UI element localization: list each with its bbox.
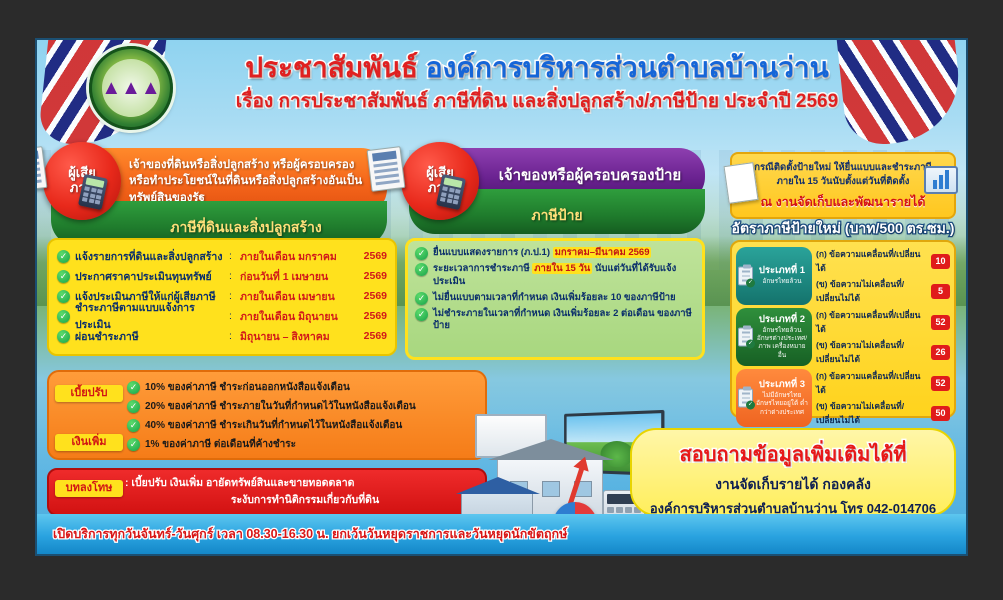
sanction-line-1: : เบี้ยปรับ เงินเพิ่ม อายัดทรัพย์สินและข…	[125, 476, 475, 491]
rate-line: (ข) ข้อความไม่เคลื่อนที่/เปลี่ยนไม่ได้ 2…	[816, 338, 950, 366]
contact-box: สอบถามข้อมูลเพิ่มเติมได้ที่ งานจัดเก็บรา…	[630, 428, 956, 516]
rate-type-1: ✓ ประเภทที่ 1 อักษรไทยล้วน	[736, 247, 812, 305]
list-item: ✓ 40% ของค่าภาษี ชำระเกินวันที่กำหนดไว้ใ…	[127, 416, 475, 435]
contact-department: งานจัดเก็บรายได้ กองคลัง	[632, 474, 954, 496]
seal-temple-icon: ▲▲▲	[101, 78, 160, 99]
schedule-label: ประกาศราคาประเมินทุนทรัพย์	[75, 268, 224, 285]
rate-row: ✓ ประเภทที่ 1 อักษรไทยล้วน (ก) ข้อความแค…	[736, 247, 950, 305]
rate-type-2-title: ประเภทที่ 2	[756, 315, 808, 326]
list-item: ✓ แจ้งรายการที่ดินและสิ่งปลูกสร้าง : ภาย…	[57, 246, 387, 266]
sign-taxpayer-block: ผู้เสีย ภาษี เจ้าของหรือผู้ครอบครองป้าย …	[409, 148, 705, 234]
service-hours-text: เปิดบริการทุกวันจันทร์-วันศุกร์ เวลา 08.…	[53, 524, 567, 544]
rate-type-1-subtitle: อักษรไทยล้วน	[756, 278, 808, 286]
sanction-tag: บทลงโทษ	[55, 480, 123, 497]
calculator-keys	[440, 186, 461, 204]
check-icon: ✓	[127, 419, 140, 432]
schedule-colon: :	[229, 330, 235, 342]
house-window	[542, 481, 560, 497]
check-icon: ✓	[415, 308, 428, 321]
new-sign-notice-box: กรณีติดตั้งป้ายใหม่ ให้ยื่นแบบและชำระภาษ…	[730, 152, 956, 219]
schedule-colon: :	[229, 290, 235, 302]
sign-rate-table: ✓ ประเภทที่ 1 อักษรไทยล้วน (ก) ข้อความแค…	[730, 240, 956, 418]
poster-canvas: ▲▲▲ ประชาสัมพันธ์ องค์การบริหารส่วนตำบลบ…	[35, 38, 968, 556]
rate-type-2-subtitle: อักษรไทยล้วน อักษรต่างประเทศ/ภาพ เครื่อง…	[756, 327, 808, 360]
schedule-label: ผ่อนชำระภาษี	[75, 328, 224, 345]
check-icon: ✓	[127, 381, 140, 394]
service-hours-bar: เปิดบริการทุกวันจันทร์-วันศุกร์ เวลา 08.…	[37, 514, 966, 554]
land-tax-schedule-list: ✓ แจ้งรายการที่ดินและสิ่งปลูกสร้าง : ภาย…	[47, 238, 397, 356]
rate-value-badge: 10	[931, 254, 950, 269]
organization-seal-logo: ▲▲▲	[89, 46, 173, 130]
rate-type-3-title: ประเภทที่ 3	[756, 380, 808, 391]
rate-line: (ข) ข้อความไม่เคลื่อนที่/เปลี่ยนไม่ได้ 5…	[816, 399, 950, 427]
sanction-box: บทลงโทษ : เบี้ยปรับ เงินเพิ่ม อายัดทรัพย…	[47, 468, 487, 516]
schedule-year: 2569	[355, 290, 387, 302]
rate-line-text: (ก) ข้อความแคลื่อนที่/เปลี่ยนได้	[816, 308, 927, 336]
poster-header: ▲▲▲ ประชาสัมพันธ์ องค์การบริหารส่วนตำบลบ…	[37, 40, 966, 138]
schedule-year: 2569	[355, 270, 387, 282]
sanction-line-2: ระงับการทำนิติกรรมเกี่ยวกับที่ดิน	[125, 491, 475, 508]
rate-line: (ก) ข้อความแคลื่อนที่/เปลี่ยนได้ 52	[816, 308, 950, 336]
check-icon: ✓	[415, 247, 428, 260]
calculator-keys	[82, 186, 103, 204]
rate-line: (ก) ข้อความแคลื่อนที่/เปลี่ยนได้ 52	[816, 369, 950, 397]
land-taxpayer-block: ผู้เสีย ภาษี เจ้าของที่ดินหรือสิ่งปลูกสร…	[51, 148, 387, 246]
notice-line-3: ณ งานจัดเก็บและพัฒนารายได้	[740, 192, 946, 212]
check-icon: ✓	[57, 310, 70, 323]
penalty-box: เบี้ยปรับ เงินเพิ่ม ✓ 10% ของค่าภาษี ชำร…	[47, 370, 487, 460]
notice-line-2: ภายใน 15 วันนับตั้งแต่วันที่ติดตั้ง	[740, 175, 946, 189]
schedule-when: ภายในเดือน มิถุนายน	[240, 308, 350, 325]
fine-text: 20% ของค่าภาษี ชำระภายในวันที่กำหนดไว้ใน…	[145, 399, 416, 414]
clipboard-check-icon: ✓	[738, 328, 753, 347]
rate-items-1: (ก) ข้อความแคลื่อนที่/เปลี่ยนได้ 10 (ข) …	[816, 247, 950, 305]
list-item: ✓ ประกาศราคาประเมินทุนทรัพย์ : ก่อนวันที…	[57, 266, 387, 286]
rate-line-text: (ก) ข้อความแคลื่อนที่/เปลี่ยนได้	[816, 369, 927, 397]
schedule-when: ก่อนวันที่ 1 เมษายน	[240, 268, 350, 285]
rate-row: ✓ ประเภทที่ 3 ไม่มีอักษรไทย อักษรไทยอยู่…	[736, 369, 950, 427]
schedule-label: แจ้งรายการที่ดินและสิ่งปลูกสร้าง	[75, 248, 224, 265]
rate-table-title: อัตราภาษีป้ายใหม่ (บาท/500 ตร.ซม.)	[730, 218, 956, 240]
list-item: ✓ ผ่อนชำระภาษี : มิถุนายน – สิงหาคม 2569	[57, 326, 387, 346]
schedule-colon: :	[229, 270, 235, 282]
schedule-colon: :	[229, 310, 235, 322]
fine-text: 10% ของค่าภาษี ชำระก่อนออกหนังสือแจ้งเตื…	[145, 380, 350, 395]
sign-rule-text: ไม่ยื่นแบบตามเวลาที่กำหนด เงินเพิ่มร้อยล…	[433, 292, 676, 305]
surcharge-text: 1% ของค่าภาษี ต่อเดือนที่ค้างชำระ	[145, 437, 296, 452]
sign-rule-highlight: ภายใน 15 วัน	[532, 263, 592, 274]
sign-tax-rules-list: ✓ ยื่นแบบแสดงรายการ (ภ.ป.1) มกราคม–มีนาค…	[405, 238, 705, 360]
sign-rule-highlight: มกราคม–มีนาคม 2569	[553, 247, 652, 258]
rate-line: (ก) ข้อความแคลื่อนที่/เปลี่ยนได้ 10	[816, 247, 950, 275]
rate-line-text: (ข) ข้อความไม่เคลื่อนที่/เปลี่ยนไม่ได้	[816, 338, 927, 366]
check-icon: ✓	[127, 400, 140, 413]
sign-rule-text: ระยะเวลาการชำระภาษี ภายใน 15 วัน นับแต่ว…	[433, 263, 695, 289]
sign-rule-text: ยื่นแบบแสดงรายการ (ภ.ป.1) มกราคม–มีนาคม …	[433, 247, 651, 260]
rate-value-badge: 26	[931, 345, 950, 360]
rate-type-2: ✓ ประเภทที่ 2 อักษรไทยล้วน อักษรต่างประเ…	[736, 308, 812, 366]
list-item: ✓ 20% ของค่าภาษี ชำระภายในวันที่กำหนดไว้…	[127, 397, 475, 416]
check-icon: ✓	[746, 401, 755, 410]
list-item: ✓ ระยะเวลาการชำระภาษี ภายใน 15 วัน นับแต…	[415, 263, 695, 289]
rate-value-badge: 50	[931, 406, 950, 421]
check-icon: ✓	[57, 250, 70, 263]
schedule-year: 2569	[355, 250, 387, 262]
rate-row: ✓ ประเภทที่ 2 อักษรไทยล้วน อักษรต่างประเ…	[736, 308, 950, 366]
schedule-year: 2569	[355, 330, 387, 342]
schedule-year: 2569	[355, 310, 387, 322]
fine-tag: เบี้ยปรับ	[55, 385, 123, 402]
schedule-when: มิถุนายน – สิงหาคม	[240, 328, 350, 345]
page-subtitle: เรื่อง การประชาสัมพันธ์ ภาษีที่ดิน และสิ…	[187, 92, 887, 111]
list-item: ✓ ชำระภาษีตามแบบแจ้งการประเมิน : ภายในเด…	[57, 306, 387, 326]
check-icon: ✓	[415, 292, 428, 305]
notice-monitor-icon	[924, 166, 958, 194]
notice-document-icon	[724, 162, 759, 204]
list-item: ✓ 1% ของค่าภาษี ต่อเดือนที่ค้างชำระ	[127, 435, 475, 454]
land-taxpayer-badge: ผู้เสีย ภาษี	[43, 142, 121, 220]
sign-rule-pre: ระยะเวลาการชำระภาษี	[433, 263, 532, 274]
rate-line-text: (ก) ข้อความแคลื่อนที่/เปลี่ยนได้	[816, 247, 927, 275]
rate-line: (ข) ข้อความไม่เคลื่อนที่/เปลี่ยนไม่ได้ 5	[816, 277, 950, 305]
schedule-colon: :	[229, 250, 235, 262]
sign-rule-text: ไม่ชำระภายในเวลาที่กำหนด เงินเพิ่มร้อยละ…	[433, 308, 695, 334]
list-item: ✓ ไม่ยื่นแบบตามเวลาที่กำหนด เงินเพิ่มร้อ…	[415, 292, 695, 305]
sign-taxpayer-badge: ผู้เสีย ภาษี	[401, 142, 479, 220]
page-title-blue: องค์การบริหารส่วนตำบลบ้านว่าน	[418, 52, 829, 83]
rate-line-text: (ข) ข้อความไม่เคลื่อนที่/เปลี่ยนไม่ได้	[816, 399, 927, 427]
check-icon: ✓	[57, 330, 70, 343]
rate-line-text: (ข) ข้อความไม่เคลื่อนที่/เปลี่ยนไม่ได้	[816, 277, 927, 305]
seal-inner: ▲▲▲	[102, 59, 160, 117]
check-icon: ✓	[415, 263, 428, 276]
check-icon: ✓	[57, 290, 70, 303]
rate-items-2: (ก) ข้อความแคลื่อนที่/เปลี่ยนได้ 52 (ข) …	[816, 308, 950, 366]
rate-value-badge: 52	[931, 315, 950, 330]
check-icon: ✓	[746, 340, 755, 349]
list-item: ✓ ไม่ชำระภายในเวลาที่กำหนด เงินเพิ่มร้อย…	[415, 308, 695, 334]
check-icon: ✓	[57, 270, 70, 283]
sign-rule-pre: ยื่นแบบแสดงรายการ (ภ.ป.1)	[433, 247, 553, 258]
list-item: ✓ 10% ของค่าภาษี ชำระก่อนออกหนังสือแจ้งเ…	[127, 378, 475, 397]
document-icon	[367, 146, 406, 192]
clipboard-check-icon: ✓	[738, 389, 753, 408]
list-item: ✓ ยื่นแบบแสดงรายการ (ภ.ป.1) มกราคม–มีนาค…	[415, 247, 695, 260]
rate-value-badge: 52	[931, 376, 950, 391]
schedule-when: ภายในเดือน เมษายน	[240, 288, 350, 305]
contact-heading: สอบถามข้อมูลเพิ่มเติมได้ที่	[632, 438, 954, 470]
rate-type-3: ✓ ประเภทที่ 3 ไม่มีอักษรไทย อักษรไทยอยู่…	[736, 369, 812, 427]
check-icon: ✓	[127, 438, 140, 451]
rate-type-3-subtitle: ไม่มีอักษรไทย อักษรไทยอยู่ใต้ ต่ำกว่าต่า…	[756, 392, 808, 416]
fine-text: 40% ของค่าภาษี ชำระเกินวันที่กำหนดไว้ในห…	[145, 418, 402, 433]
rate-type-1-title: ประเภทที่ 1	[756, 266, 808, 277]
rate-items-3: (ก) ข้อความแคลื่อนที่/เปลี่ยนได้ 52 (ข) …	[816, 369, 950, 427]
rate-value-badge: 5	[931, 284, 950, 299]
surcharge-tag: เงินเพิ่ม	[55, 434, 123, 451]
page-title-red: ประชาสัมพันธ์	[245, 52, 418, 83]
page-title: ประชาสัมพันธ์ องค์การบริหารส่วนตำบลบ้านว…	[187, 54, 887, 82]
clipboard-check-icon: ✓	[738, 267, 753, 286]
notice-line-1: กรณีติดตั้งป้ายใหม่ ให้ยื่นแบบและชำระภาษ…	[740, 161, 946, 175]
check-icon: ✓	[746, 279, 755, 288]
schedule-when: ภายในเดือน มกราคม	[240, 248, 350, 265]
